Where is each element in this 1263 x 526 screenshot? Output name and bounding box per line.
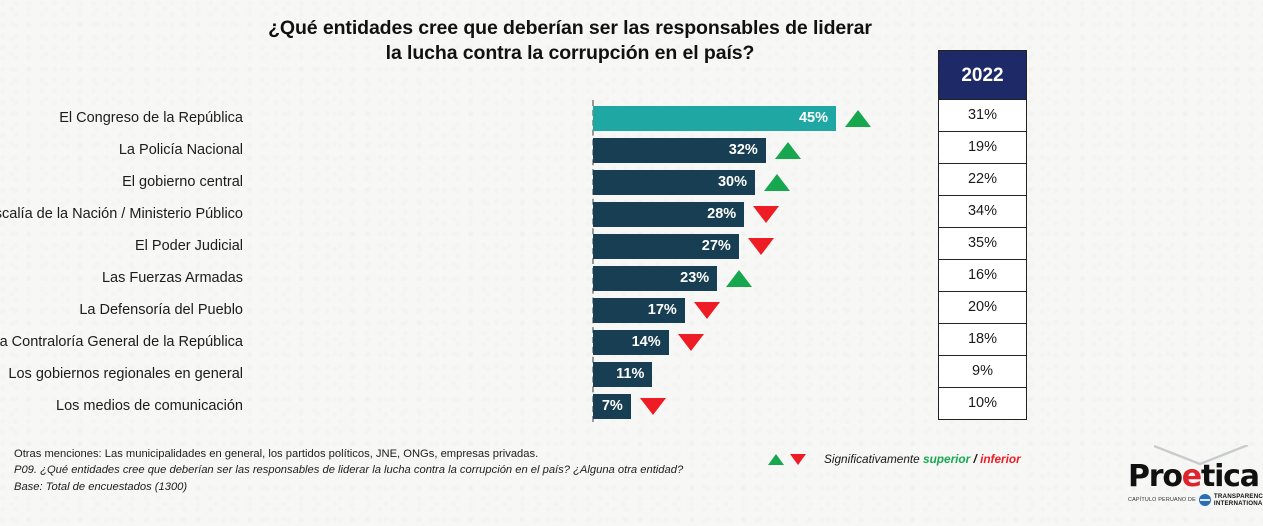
category-label: El gobierno central [122,166,243,198]
bar: 14% [593,330,669,355]
table-cell-2022: 34% [938,196,1027,228]
ti-line-1: TRANSPARENCY [1214,493,1263,500]
category-label: El Congreso de la República [59,102,243,134]
bar: 27% [593,234,739,259]
bar-group: 14% [593,330,704,355]
chart-row: La Defensoría del Pueblo17% [0,294,930,326]
chart-row: Los medios de comunicación7% [0,390,930,422]
footnote-question: P09. ¿Qué entidades cree que deberían se… [14,462,683,478]
legend-superior: superior [923,452,970,466]
logo-word-pro: Pro [1128,459,1182,494]
bar-value-label: 27% [702,234,731,259]
logo-tagline: CAPÍTULO PERUANO DE [1128,497,1196,503]
legend-text: Significativamente superior / inferior [824,452,1021,466]
arrow-up-icon [726,270,752,287]
table-cell-2022: 31% [938,100,1027,132]
bar: 28% [593,202,744,227]
page-title: ¿Qué entidades cree que deberían ser las… [170,16,970,66]
table-cell-2022: 10% [938,388,1027,420]
bar-group: 27% [593,234,774,259]
arrow-down-icon [640,398,666,415]
category-label: La Defensoría del Pueblo [79,294,243,326]
table-cell-2022: 20% [938,292,1027,324]
legend-prefix: Significativamente [824,452,920,466]
bar-value-label: 17% [648,298,677,323]
category-label: La Policía Nacional [119,134,243,166]
footnote-other-mentions: Otras menciones: Las municipalidades en … [14,446,683,462]
table-cell-2022: 16% [938,260,1027,292]
table-cell-2022: 22% [938,164,1027,196]
ti-line-2: INTERNATIONAL [1214,500,1263,507]
arrow-down-icon [678,334,704,351]
chart-row: El gobierno central30% [0,166,930,198]
arrow-up-icon [764,174,790,191]
legend-separator: / [974,452,977,466]
logo-word-tica: tica [1201,459,1259,494]
logo-wordmark: Proetica [1128,459,1259,494]
bar: 17% [593,298,685,323]
chart-row: Las Fuerzas Armadas23% [0,262,930,294]
category-label: El Poder Judicial [135,230,243,262]
arrow-up-icon [768,454,784,465]
bar-group: 30% [593,170,790,195]
bar-group: 23% [593,266,752,291]
bar: 32% [593,138,766,163]
bar-group: 7% [593,394,666,419]
chart-row: La Policía Nacional32% [0,134,930,166]
bar: 45% [593,106,836,131]
table-header-2022: 2022 [938,50,1027,100]
bar-value-label: 14% [632,330,661,355]
category-label: Los gobiernos regionales en general [8,358,243,390]
table-cell-2022: 35% [938,228,1027,260]
bar-value-label: 11% [616,362,644,387]
category-label: La Contraloría General de la República [0,326,243,358]
significance-legend: Significativamente superior / inferior [768,452,1021,466]
bar-value-label: 30% [718,170,747,195]
table-cell-2022: 19% [938,132,1027,164]
transparency-international-name: TRANSPARENCY INTERNATIONAL [1214,493,1263,507]
bar: 7% [593,394,631,419]
comparison-table-2022: 2022 31%19%22%34%35%16%20%18%9%10% [938,50,1027,420]
footnotes: Otras menciones: Las municipalidades en … [14,446,683,495]
arrow-down-icon [694,302,720,319]
bar-chart-plot: El Congreso de la República45%La Policía… [0,102,930,422]
bar-group: 17% [593,298,720,323]
arrow-down-icon [753,206,779,223]
legend-inferior: inferior [980,452,1021,466]
bar-value-label: 28% [707,202,736,227]
arrow-down-icon [748,238,774,255]
bar-value-label: 32% [729,138,758,163]
category-label: Las Fuerzas Armadas [102,262,243,294]
chart-row: La Fiscalía de la Nación / Ministerio Pú… [0,198,930,230]
bar-value-label: 45% [799,106,828,131]
chart-row: La Contraloría General de la República14… [0,326,930,358]
logo-word-e: e [1182,459,1201,494]
chart-page: ¿Qué entidades cree que deberían ser las… [0,0,1263,526]
table-cell-2022: 9% [938,356,1027,388]
arrow-up-icon [845,110,871,127]
bar-group: 45% [593,106,871,131]
bar-group: 28% [593,202,779,227]
bar-value-label: 23% [680,266,709,291]
chart-row: El Poder Judicial27% [0,230,930,262]
arrow-up-icon [775,142,801,159]
table-cell-2022: 18% [938,324,1027,356]
category-label: La Fiscalía de la Nación / Ministerio Pú… [0,198,243,230]
arrow-down-icon [790,454,806,465]
bar-group: 32% [593,138,801,163]
globe-icon [1199,494,1211,506]
logo-subline: CAPÍTULO PERUANO DE TRANSPARENCY INTERNA… [1128,493,1263,507]
page-title-line-2: la lucha contra la corrupción en el país… [170,41,970,66]
proetica-logo: Proetica CAPÍTULO PERUANO DE TRANSPARENC… [1126,445,1254,511]
footnote-base: Base: Total de encuestados (1300) [14,479,683,495]
chart-row: El Congreso de la República45% [0,102,930,134]
table-body: 31%19%22%34%35%16%20%18%9%10% [938,100,1027,420]
bar: 11% [593,362,652,387]
page-title-line-1: ¿Qué entidades cree que deberían ser las… [170,16,970,41]
category-label: Los medios de comunicación [56,390,243,422]
bar-group: 11% [593,362,652,387]
bar-value-label: 7% [602,394,623,419]
chart-row: Los gobiernos regionales en general11% [0,358,930,390]
bar: 30% [593,170,755,195]
bar: 23% [593,266,717,291]
